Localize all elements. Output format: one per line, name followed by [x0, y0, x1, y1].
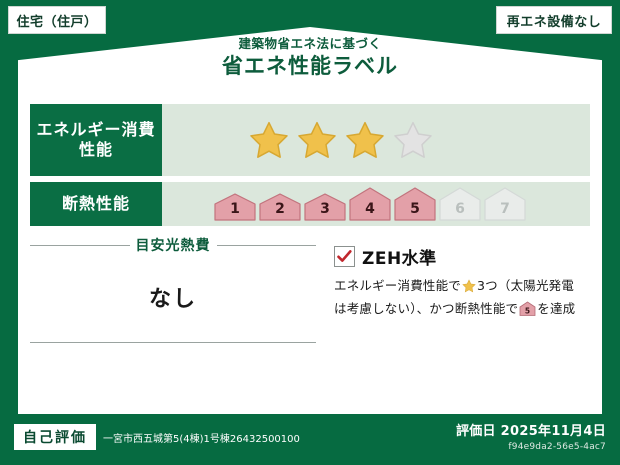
label-body-panel: エネルギー消費性能 断熱性能 1234567 目安光熱費	[18, 96, 602, 414]
insulation-performance-label-text: 断熱性能	[62, 194, 130, 214]
insulation-level-number: 2	[259, 201, 301, 217]
zeh-desc-part2: 3つ（太陽光発電	[477, 278, 574, 293]
insulation-level-2: 2	[259, 193, 301, 221]
star-filled-icon	[296, 120, 338, 160]
insulation-level-3: 3	[304, 193, 346, 221]
evaluation-date: 評価日 2025年11月4日	[456, 420, 606, 439]
insulation-level-4: 4	[349, 187, 391, 221]
zeh-checkbox[interactable]	[334, 246, 355, 267]
energy-performance-label-text: エネルギー消費性能	[30, 120, 162, 160]
utility-cost-title: 目安光熱費	[136, 235, 211, 255]
star-filled-icon	[344, 120, 386, 160]
insulation-performance-label-cell: 断熱性能	[30, 182, 162, 226]
energy-performance-value-cell	[162, 104, 590, 176]
zeh-desc-part1: エネルギー消費性能で	[334, 278, 461, 293]
badge-building-type: 住宅（住戸）	[8, 6, 106, 34]
insulation-performance-value-cell: 1234567	[162, 182, 590, 226]
footer-right-group: 評価日 2025年11月4日 f94e9da2-56e5-4ac7	[456, 420, 606, 452]
footer-left-group: 自己評価 一宮市西五城第5(4棟)1号棟26432500100	[14, 424, 300, 450]
zeh-desc-part4: を達成	[537, 301, 575, 316]
insulation-level-6: 6	[439, 187, 481, 221]
insulation-level-number: 1	[214, 201, 256, 217]
zeh-description: エネルギー消費性能で3つ（太陽光発電 は考慮しない）、かつ断熱性能で5を達成	[334, 276, 590, 323]
inline-star-icon	[462, 279, 476, 299]
rule-right	[217, 245, 317, 246]
star-empty-icon	[392, 120, 434, 160]
roof-shape	[18, 27, 602, 99]
label-footer: 自己評価 一宮市西五城第5(4棟)1号棟26432500100 評価日 2025…	[0, 414, 620, 465]
label-hash-id: f94e9da2-56e5-4ac7	[456, 442, 606, 452]
zeh-title: ZEH水準	[362, 244, 437, 269]
insulation-level-number: 3	[304, 201, 346, 217]
insulation-level-1: 1	[214, 193, 256, 221]
star-rating	[248, 120, 434, 160]
insulation-level-number: 4	[349, 201, 391, 217]
insulation-level-number: 5	[394, 201, 436, 217]
svg-text:5: 5	[525, 307, 530, 316]
self-evaluation-badge: 自己評価	[14, 424, 96, 450]
check-icon	[336, 248, 353, 265]
property-address: 一宮市西五城第5(4棟)1号棟26432500100	[103, 430, 300, 445]
insulation-level-number: 6	[439, 201, 481, 217]
insulation-level-7: 7	[484, 187, 526, 221]
energy-performance-label: 建築物省エネ法に基づく 省エネ性能ラベル 住宅（住戸） 再エネ設備なし エネルギ…	[0, 0, 620, 465]
insulation-performance-row: 断熱性能 1234567	[30, 182, 590, 226]
inline-house-icon: 5	[519, 301, 536, 322]
energy-performance-label-cell: エネルギー消費性能	[30, 104, 162, 176]
lower-section: 目安光熱費 なし ZEH水準 エネルギー消費性能で3つ（太陽光発電	[30, 236, 590, 343]
rule-left	[30, 245, 130, 246]
badge-renewable-energy: 再エネ設備なし	[496, 6, 612, 34]
insulation-level-scale: 1234567	[214, 187, 526, 221]
zeh-header: ZEH水準	[334, 244, 590, 269]
zeh-desc-part3: は考慮しない）、かつ断熱性能で	[334, 301, 518, 316]
insulation-level-5: 5	[394, 187, 436, 221]
utility-cost-block: 目安光熱費 なし	[30, 236, 316, 343]
star-filled-icon	[248, 120, 290, 160]
zeh-block: ZEH水準 エネルギー消費性能で3つ（太陽光発電 は考慮しない）、かつ断熱性能で…	[316, 236, 590, 343]
insulation-level-number: 7	[484, 201, 526, 217]
utility-cost-value: なし	[30, 254, 316, 340]
energy-performance-row: エネルギー消費性能	[30, 104, 590, 176]
utility-cost-bottom-rule	[30, 342, 316, 343]
utility-cost-header: 目安光熱費	[30, 236, 316, 254]
